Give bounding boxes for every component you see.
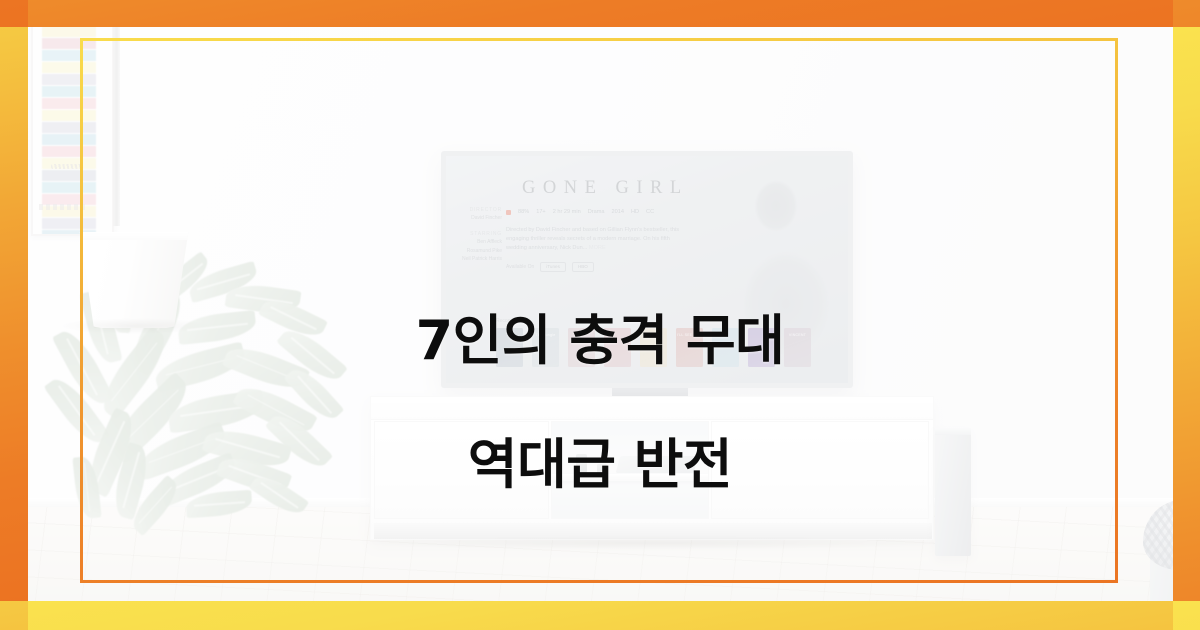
runtime-value: 2 hr 29 min bbox=[553, 209, 581, 215]
artwork-stripe bbox=[42, 170, 96, 181]
artwork-stripe bbox=[42, 62, 96, 73]
framed-striped-artwork bbox=[31, 0, 114, 236]
artwork-stripe bbox=[42, 98, 96, 109]
artwork-stripe bbox=[42, 74, 96, 85]
headline-line-1: 7인의 충격 무대 bbox=[0, 310, 1200, 372]
tomato-score-icon bbox=[506, 210, 511, 215]
cc-badge: CC bbox=[646, 209, 654, 215]
director-label: DIRECTOR bbox=[446, 206, 502, 214]
artwork-stripe bbox=[42, 26, 96, 37]
year-value: 2014 bbox=[611, 209, 623, 215]
artist-signature bbox=[51, 164, 83, 169]
artwork-stripe bbox=[42, 182, 96, 193]
artwork-caption bbox=[39, 204, 87, 210]
headline: 7인의 충격 무대 역대급 반전 bbox=[0, 248, 1200, 558]
artwork-stripe bbox=[42, 134, 96, 145]
director-name: David Fincher bbox=[446, 214, 502, 222]
thumbnail-canvas: GONE GIRL DIRECTOR David Fincher STARRIN… bbox=[0, 0, 1200, 630]
artwork-stripe bbox=[42, 14, 96, 25]
artwork-stripe bbox=[42, 110, 96, 121]
headline-line-2: 역대급 반전 bbox=[0, 434, 1200, 496]
genre-value: Drama bbox=[588, 209, 605, 215]
artwork-stripe bbox=[42, 38, 96, 49]
artwork-stripe bbox=[42, 122, 96, 133]
hd-badge: HD bbox=[631, 209, 639, 215]
artwork-stripe bbox=[42, 218, 96, 229]
artwork-stripe bbox=[42, 2, 96, 13]
artwork-stripe bbox=[42, 146, 96, 157]
rating-value: 17+ bbox=[536, 209, 546, 215]
artwork-stripe bbox=[42, 50, 96, 61]
score-value: 88% bbox=[518, 209, 529, 215]
movie-title: GONE GIRL bbox=[522, 178, 689, 199]
wall-panel-edge bbox=[113, 0, 120, 226]
artwork-stripe bbox=[42, 86, 96, 97]
starring-label: STARRING bbox=[446, 230, 502, 238]
artwork-stripes bbox=[42, 2, 96, 154]
movie-meta-row: 88% 17+ 2 hr 29 min Drama 2014 HD CC bbox=[506, 209, 654, 215]
